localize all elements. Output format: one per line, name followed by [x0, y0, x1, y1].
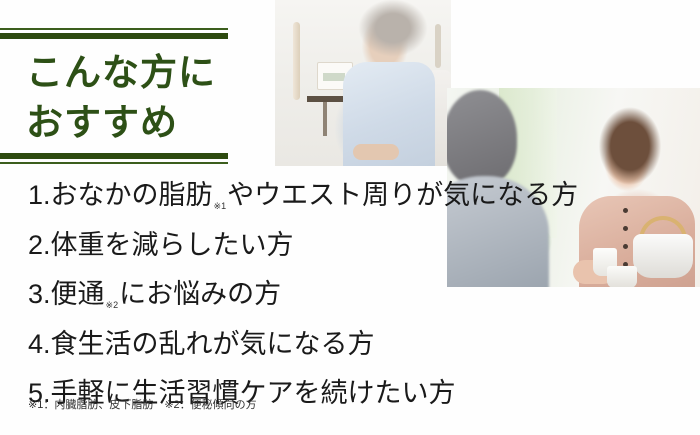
list-item-text-before: おなかの脂肪 — [51, 180, 213, 210]
promo-banner: こんな方に おすすめ 1.おなかの脂肪※1やウエスト周りが気になる方 2.体重を… — [0, 0, 700, 435]
grab-bar-decor — [435, 24, 441, 68]
list-item-text-after: やウエスト周りが気になる方 — [227, 180, 578, 210]
list-item-number: 1. — [28, 176, 51, 215]
page-title: こんな方に おすすめ — [0, 39, 228, 153]
list-item-text-before: 体重を減らしたい方 — [51, 230, 294, 260]
list-item: 4.食生活の乱れが気になる方 — [28, 325, 668, 375]
list-item-number: 2. — [28, 226, 51, 265]
shelf-leg-decor — [323, 102, 327, 136]
foreground-person-head-decor — [447, 90, 517, 186]
heading-bottom-rule-thin — [0, 162, 228, 164]
list-item: 2.体重を減らしたい方 — [28, 226, 668, 276]
list-item: 1.おなかの脂肪※1やウエスト周りが気になる方 — [28, 176, 668, 226]
list-item-number: 3. — [28, 275, 51, 314]
recommendation-list: 1.おなかの脂肪※1やウエスト周りが気になる方 2.体重を減らしたい方 3.便通… — [28, 176, 668, 424]
list-item-text-before: 便通 — [51, 279, 105, 309]
list-item-number: 4. — [28, 325, 51, 364]
list-item: 3.便通※2にお悩みの方 — [28, 275, 668, 325]
list-item-text-after: にお悩みの方 — [119, 279, 281, 309]
footnote-marker: ※1 — [214, 201, 227, 211]
footnote-marker: ※2 — [106, 300, 119, 310]
man-hands-decor — [353, 144, 399, 160]
photo-elderly-man — [275, 0, 451, 166]
heading-block: こんな方に おすすめ — [0, 28, 228, 164]
footnote-text: ※1：内臓脂肪、皮下脂肪 ※2：便秘傾向の方 — [28, 396, 257, 412]
wall-rail-decor — [293, 22, 300, 100]
list-item-text-before: 食生活の乱れが気になる方 — [51, 329, 375, 359]
